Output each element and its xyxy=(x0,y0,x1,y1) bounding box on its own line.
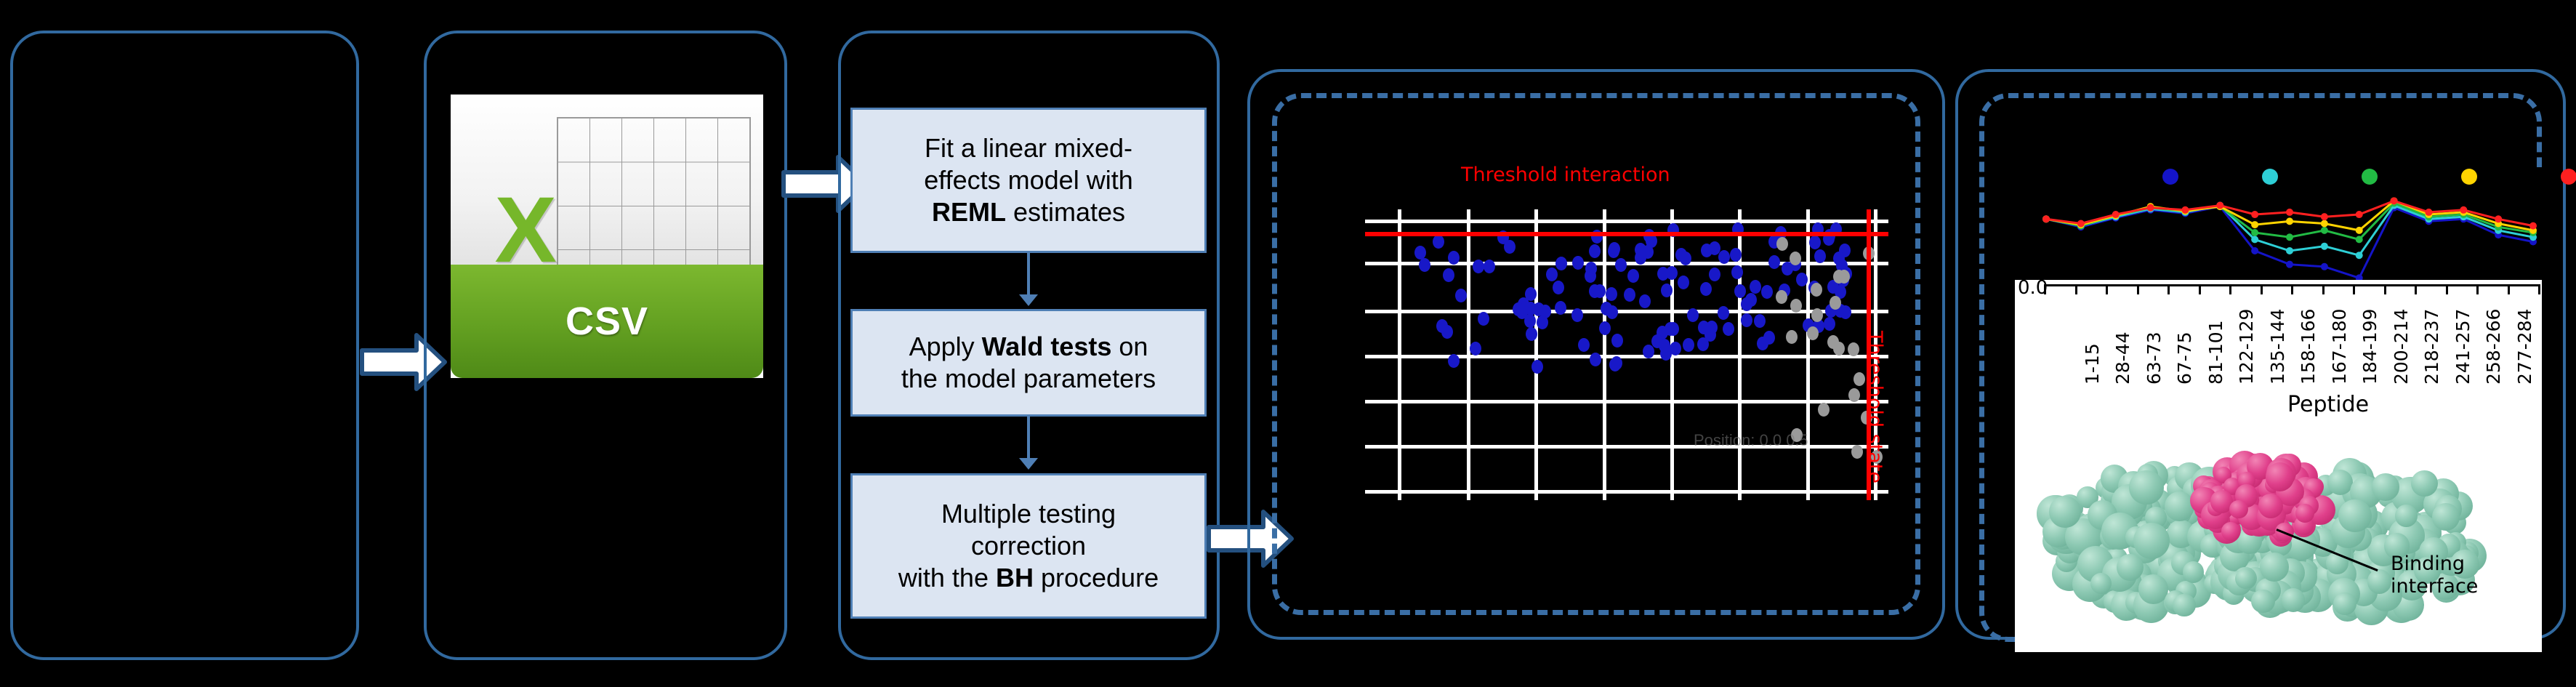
peptide-tick xyxy=(2199,284,2201,294)
legend-dot-3 xyxy=(2461,169,2477,185)
scatter-point xyxy=(1709,268,1720,281)
peptide-label: 167-180 xyxy=(2329,309,2350,385)
scatter-point xyxy=(1555,257,1567,270)
scatter-point xyxy=(1478,312,1489,326)
line-marker xyxy=(2529,222,2537,230)
scatter-point xyxy=(1513,302,1524,316)
line-marker xyxy=(2251,247,2258,254)
line-marker xyxy=(2286,217,2293,225)
line-marker xyxy=(2356,236,2363,243)
line-marker xyxy=(2112,211,2120,218)
peptide-label: 218-237 xyxy=(2421,309,2442,385)
peptide-axis-ticks xyxy=(2044,284,2538,296)
line-marker xyxy=(2321,220,2328,228)
scatter-point xyxy=(1553,281,1564,294)
line-marker xyxy=(2286,233,2293,241)
scatter-point xyxy=(1734,284,1746,298)
scatter-point-grey xyxy=(1776,290,1787,304)
step-bh-line-3: with the BH procedure xyxy=(898,562,1159,594)
scatter-point xyxy=(1448,251,1460,265)
line-marker xyxy=(2321,213,2328,220)
step-reml-line-2: effects model with xyxy=(924,164,1132,196)
protein-surface-atom xyxy=(2117,554,2144,581)
scatter-point-grey xyxy=(1848,388,1860,402)
line-marker xyxy=(2286,209,2293,216)
protein-surface-atom xyxy=(2251,590,2275,614)
binding-interface-label-line-1: Binding xyxy=(2391,553,2478,575)
connector-reml-to-wald-head xyxy=(1019,294,1038,306)
scatter-point xyxy=(1718,306,1729,320)
scatter-point xyxy=(1606,287,1617,301)
csv-label: CSV xyxy=(451,265,763,378)
protein-surface-blobs xyxy=(2037,418,2502,636)
scatter-point xyxy=(1680,252,1691,265)
scatter-point xyxy=(1590,353,1601,366)
scatter-point-grey xyxy=(1807,326,1819,340)
scatter-point xyxy=(1642,245,1654,259)
protein-surface-atom xyxy=(2367,569,2391,593)
protein-surface-atom xyxy=(2395,505,2418,527)
grid-line-horizontal xyxy=(1365,310,1888,313)
protein-surface-atom xyxy=(2411,470,2438,497)
peptide-tick xyxy=(2538,284,2540,294)
scatter-point xyxy=(1555,301,1566,315)
scatter-point xyxy=(1470,342,1481,355)
peptide-tick xyxy=(2476,284,2479,294)
scatter-point xyxy=(1761,285,1773,299)
legend-dot-1 xyxy=(2262,169,2278,185)
stage-input-panel[interactable] xyxy=(10,31,359,660)
peptide-label: 135-144 xyxy=(2267,309,2288,385)
line-marker xyxy=(2077,220,2085,228)
scatter-point xyxy=(1572,256,1584,270)
x-axis-title: Peptide xyxy=(2287,392,2369,417)
line-marker xyxy=(2321,243,2328,250)
peptide-tick xyxy=(2106,284,2108,294)
scatter-point-grey xyxy=(1851,445,1863,459)
scatter-point xyxy=(1701,244,1712,257)
scatter-point-grey xyxy=(1848,342,1859,356)
scatter-point xyxy=(1578,338,1590,352)
scatter-point xyxy=(1606,305,1618,319)
protein-surface-atom xyxy=(2327,470,2353,495)
line-marker xyxy=(2251,211,2258,218)
scatter-point xyxy=(1609,242,1620,256)
scatter-point xyxy=(1419,258,1430,272)
scatter-point xyxy=(1571,308,1583,322)
scatter-point xyxy=(1750,280,1761,294)
scatter-point xyxy=(1531,360,1543,374)
scatter-point xyxy=(1611,356,1622,370)
scatter-point xyxy=(1768,255,1780,269)
peptide-tick xyxy=(2322,284,2325,294)
step-wald-line-2: the model parameters xyxy=(901,363,1156,395)
peptide-tick xyxy=(2508,284,2510,294)
results-figure-panel: 0.0 1-1528-4463-7367-7581-101122-129135-… xyxy=(2015,280,2542,652)
peptide-label: 81-101 xyxy=(2205,320,2226,385)
peptide-label: 28-44 xyxy=(2112,332,2133,385)
scatter-point xyxy=(1611,334,1623,347)
scatter-point xyxy=(1443,268,1454,282)
line-marker xyxy=(2495,215,2502,222)
scatter-point-grey xyxy=(1838,270,1850,284)
protein-surface-atom xyxy=(2338,499,2372,533)
legend-dot-2 xyxy=(2362,169,2378,185)
peptide-tick xyxy=(2044,284,2046,294)
protein-surface-atom xyxy=(2333,592,2356,616)
protein-surface-atom xyxy=(2432,503,2459,530)
scatter-point xyxy=(1484,260,1495,273)
scatter-point xyxy=(1678,276,1689,289)
scatter-point xyxy=(1455,289,1467,302)
protein-surface-atom xyxy=(2173,594,2195,616)
scatter-point xyxy=(1615,258,1627,272)
scatter-point-grey xyxy=(1811,283,1822,297)
scatter-point xyxy=(1666,266,1678,280)
scatter-point-grey xyxy=(1818,403,1830,417)
grid-line-horizontal xyxy=(1365,262,1888,265)
line-marker xyxy=(2251,221,2258,228)
scatter-point-grey xyxy=(1786,330,1798,344)
peptide-tick xyxy=(2353,284,2355,294)
scatter-point xyxy=(1433,235,1444,249)
peptide-label: 122-129 xyxy=(2236,309,2257,385)
protein-surface-atom xyxy=(2183,561,2205,583)
binding-interface-label: Binding interface xyxy=(2391,553,2478,598)
scatter-faint-axis-text: Position: 0.0 0.5 xyxy=(1694,431,1808,450)
peptide-axis-labels: 1-1528-4463-7367-7581-101122-129135-1441… xyxy=(2044,297,2538,392)
protein-surface-atom xyxy=(2372,473,2399,500)
scatter-point xyxy=(1683,338,1694,352)
grid-line-horizontal xyxy=(1365,400,1888,403)
line-marker xyxy=(2216,202,2223,209)
step-reml-box[interactable]: Fit a linear mixed- effects model with R… xyxy=(850,108,1207,253)
peptide-label: 63-73 xyxy=(2144,332,2165,385)
peptide-tick xyxy=(2291,284,2293,294)
scatter-point xyxy=(1809,236,1821,249)
peptide-tick xyxy=(2137,284,2139,294)
scatter-point xyxy=(1537,316,1548,329)
protein-ligand-atom xyxy=(2221,522,2240,541)
scatter-point xyxy=(1833,252,1845,265)
line-marker xyxy=(2321,227,2328,234)
line-marker xyxy=(2321,263,2328,270)
line-marker xyxy=(2286,247,2293,254)
scatter-point xyxy=(1745,293,1757,307)
peptide-tick xyxy=(2415,284,2417,294)
scatter-point xyxy=(1730,248,1742,262)
grid-line-horizontal xyxy=(1365,355,1888,358)
peptide-tick xyxy=(2168,284,2170,294)
scatter-point xyxy=(1473,260,1484,273)
protein-surface-atom xyxy=(2129,470,2163,505)
peptide-label: 67-75 xyxy=(2174,332,2195,385)
line-marker xyxy=(2356,227,2363,234)
scatter-point xyxy=(1448,354,1460,368)
line-marker xyxy=(2460,206,2467,214)
scatter-point xyxy=(1723,322,1734,336)
scatter-point xyxy=(1643,345,1654,358)
peptide-tick xyxy=(2229,284,2231,294)
scatter-point-grey xyxy=(1776,237,1788,251)
grid-line-horizontal xyxy=(1365,445,1888,449)
line-marker xyxy=(2147,204,2154,212)
peptide-label: 277-284 xyxy=(2514,309,2535,385)
line-marker xyxy=(2042,215,2050,222)
peptide-tick xyxy=(2384,284,2386,294)
step-bh-line-2: correction xyxy=(971,530,1086,562)
peptide-label: 241-257 xyxy=(2452,309,2474,385)
protein-surface-atom xyxy=(2260,553,2289,582)
step-bh-line-1: Multiple testing xyxy=(941,498,1116,530)
csv-file-icon[interactable]: X CSV xyxy=(451,95,763,378)
peptide-label: 158-166 xyxy=(2298,309,2319,385)
scatter-plot[interactable] xyxy=(1365,209,1888,500)
peptide-label: 184-199 xyxy=(2359,309,2380,385)
line-marker xyxy=(2356,252,2363,259)
protein-ligand-atom xyxy=(2295,504,2314,523)
scatter-point xyxy=(1661,284,1673,297)
line-marker xyxy=(2251,236,2258,243)
line-marker xyxy=(2181,206,2189,214)
step-wald-line-1: Apply Wald tests on xyxy=(909,331,1148,363)
step-reml-line-1: Fit a linear mixed- xyxy=(925,132,1132,164)
scatter-point xyxy=(1436,319,1448,333)
scatter-point xyxy=(1585,269,1596,283)
peptide-label: 1-15 xyxy=(2082,343,2103,385)
scatter-point xyxy=(1627,269,1639,283)
peptide-tick xyxy=(2446,284,2448,294)
peptide-tick xyxy=(2261,284,2263,294)
scatter-point xyxy=(1796,273,1808,286)
threshold-state-label: Threshold state xyxy=(1864,331,1886,483)
scatter-point xyxy=(1624,288,1635,302)
scatter-point xyxy=(1697,337,1709,351)
line-marker xyxy=(2391,197,2398,204)
line-marker xyxy=(2286,261,2293,268)
legend-dot-4 xyxy=(2561,169,2576,185)
diagram-canvas: X CSV Fit a linear mixed- effects model … xyxy=(0,0,2576,687)
scatter-point-grey xyxy=(1811,308,1823,322)
scatter-point xyxy=(1594,284,1606,298)
scatter-point xyxy=(1757,337,1768,350)
line-chart-legend xyxy=(2006,169,2544,188)
grid-line-horizontal xyxy=(1365,490,1888,494)
step-reml-line-3: REML estimates xyxy=(932,196,1125,228)
scatter-point xyxy=(1670,342,1681,355)
scatter-point xyxy=(1731,265,1743,279)
step-bh-box[interactable]: Multiple testing correction with the BH … xyxy=(850,473,1207,619)
grid-line-horizontal xyxy=(1365,220,1888,223)
protein-structure-image: Binding interface xyxy=(2037,418,2502,636)
protein-surface-atom xyxy=(2282,588,2306,612)
scatter-point xyxy=(1741,313,1752,327)
scatter-point-grey xyxy=(1790,252,1801,265)
scatter-point xyxy=(1599,321,1611,335)
peptide-label: 258-266 xyxy=(2483,309,2504,385)
binding-interface-label-line-2: interface xyxy=(2391,575,2478,598)
line-marker xyxy=(2251,229,2258,236)
step-wald-box[interactable]: Apply Wald tests on the model parameters xyxy=(850,309,1207,417)
scatter-point xyxy=(1824,317,1835,331)
scatter-point xyxy=(1546,268,1558,281)
peptide-tick xyxy=(2075,284,2077,294)
scatter-point xyxy=(1504,240,1516,254)
scatter-point xyxy=(1814,249,1826,263)
scatter-point xyxy=(1700,282,1712,296)
scatter-point-grey xyxy=(1790,299,1802,313)
scatter-point xyxy=(1651,334,1663,348)
scatter-point xyxy=(1665,322,1676,336)
protein-ligand-atom xyxy=(2266,462,2294,491)
legend-dot-0 xyxy=(2162,169,2178,185)
line-marker xyxy=(2425,209,2432,216)
line-marker xyxy=(2356,211,2363,218)
scatter-point xyxy=(1754,314,1766,328)
threshold-interaction-line xyxy=(1365,232,1888,236)
scatter-point xyxy=(1524,314,1536,328)
peptide-label: 200-214 xyxy=(2391,309,2412,385)
scatter-point xyxy=(1687,308,1699,322)
protein-surface-atom xyxy=(2049,496,2081,528)
threshold-interaction-label: Threshold interaction xyxy=(1461,164,1670,186)
scatter-point xyxy=(1639,294,1651,308)
scatter-point-grey xyxy=(1833,342,1845,355)
connector-wald-to-bh-head xyxy=(1019,458,1038,470)
scatter-point xyxy=(1589,244,1601,258)
